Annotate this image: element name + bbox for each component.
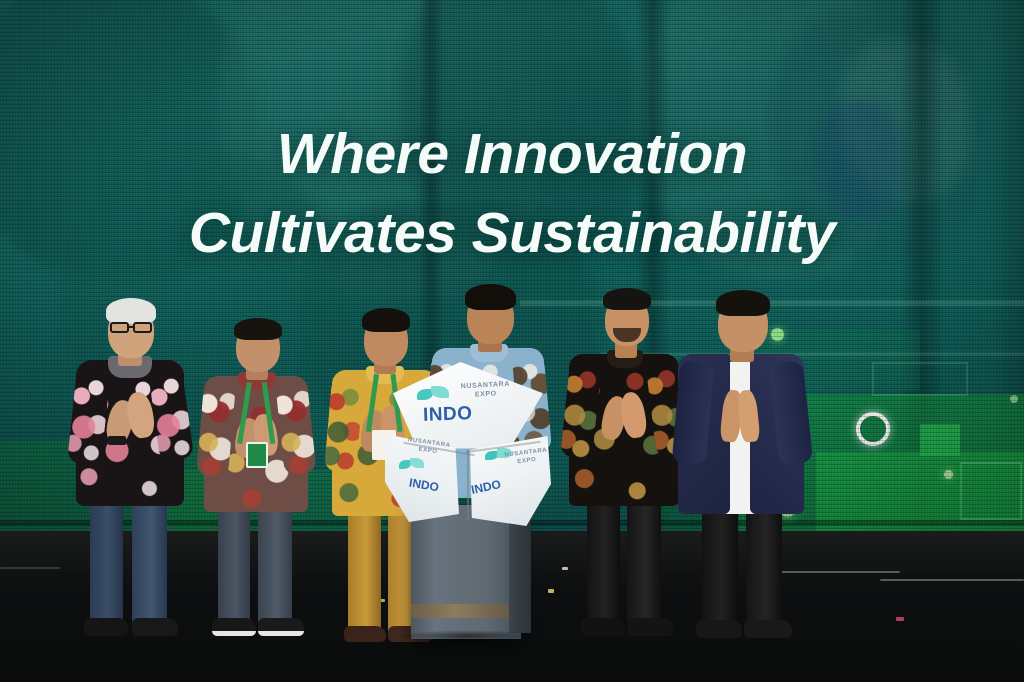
person-guest-1 <box>70 296 200 636</box>
hair <box>465 284 516 310</box>
nusantara-word: NUSANTARA <box>461 381 511 391</box>
headline-line-2: Cultivates Sustainability <box>0 205 1024 262</box>
trophy-seam <box>467 450 469 520</box>
trophy-brand-indo: INDO <box>423 403 473 427</box>
hexagonal-trophy: INDO NUSANTARA EXPO NUSANTARA EXPO INDO … <box>385 362 550 522</box>
confetti <box>896 617 904 621</box>
circle-outline-icon <box>856 412 890 446</box>
pedestal-accent-band <box>411 604 521 618</box>
shoe <box>84 618 128 636</box>
confetti <box>548 589 554 593</box>
leg <box>587 494 620 628</box>
leg <box>348 504 381 636</box>
screen-rect-outline <box>872 362 968 396</box>
leg <box>627 494 661 628</box>
leg <box>90 488 123 628</box>
screen-rect-outline <box>960 462 1022 520</box>
trophy-brand-nusantara-top: NUSANTARA EXPO <box>461 381 511 401</box>
screen-headline: Where Innovation Cultivates Sustainabili… <box>0 126 1024 262</box>
hair <box>362 308 410 332</box>
person-guest-6 <box>676 288 808 640</box>
shoe <box>581 618 625 636</box>
shoe <box>132 618 178 636</box>
hair <box>603 288 651 310</box>
person-guest-5 <box>565 288 687 640</box>
leg <box>218 496 250 628</box>
shoe <box>627 618 673 636</box>
shoe <box>744 620 792 638</box>
hair <box>106 298 156 324</box>
leg <box>132 488 167 628</box>
leg <box>702 500 738 630</box>
screen-dot <box>944 470 953 479</box>
hair <box>716 290 770 316</box>
hair <box>234 318 282 340</box>
expo-word: EXPO <box>517 456 537 464</box>
event-stage-photo: Where Innovation Cultivates Sustainabili… <box>0 0 1024 682</box>
eyeglasses-icon <box>110 322 154 333</box>
shoe <box>696 620 742 638</box>
leg <box>746 500 782 630</box>
leg <box>258 496 292 628</box>
stage-cable <box>880 579 1024 581</box>
shoe <box>258 618 304 636</box>
pedestal-shadow <box>395 630 541 642</box>
stage-cable <box>0 567 60 569</box>
person-guest-2 <box>200 318 320 638</box>
headline-line-1: Where Innovation <box>0 126 1024 183</box>
screen-dot <box>1010 395 1018 403</box>
screen-green-block <box>920 424 960 456</box>
shoe <box>212 618 256 636</box>
id-badge <box>246 442 268 468</box>
shoe <box>344 626 386 642</box>
leaf-logo-mark <box>417 386 451 402</box>
leaf-logo-mark <box>399 458 425 471</box>
expo-word: EXPO <box>475 390 497 398</box>
wristwatch <box>108 436 126 445</box>
trophy-pedestal <box>411 505 521 639</box>
